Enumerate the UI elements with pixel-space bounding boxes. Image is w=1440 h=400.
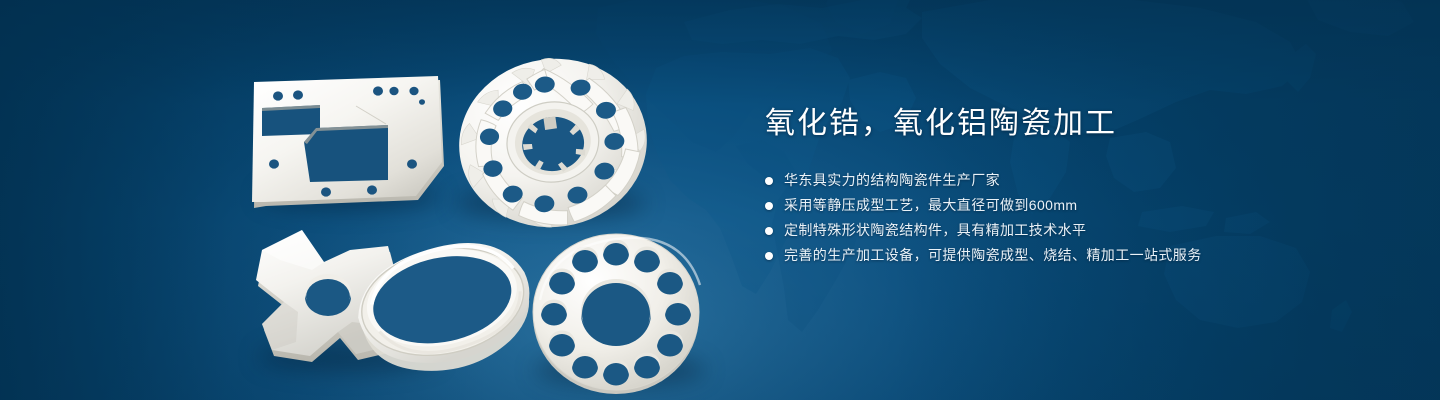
ceramic-perforated-disc <box>533 234 700 394</box>
page-title: 氧化锆，氧化铝陶瓷加工 <box>765 104 1385 144</box>
list-item: 定制特殊形状陶瓷结构件，具有精加工技术水平 <box>765 218 1385 243</box>
feature-list: 华东具实力的结构陶瓷件生产厂家 采用等静压成型工艺，最大直径可做到600mm 定… <box>765 168 1385 268</box>
bullet-dot-icon <box>765 177 773 185</box>
bullet-dot-icon <box>765 227 773 235</box>
list-item-label: 采用等静压成型工艺，最大直径可做到600mm <box>784 193 1077 218</box>
ceramic-plate <box>252 76 444 208</box>
list-item: 完善的生产加工设备，可提供陶瓷成型、烧结、精加工一站式服务 <box>765 243 1385 268</box>
ceramic-impeller <box>448 46 658 239</box>
list-item: 华东具实力的结构陶瓷件生产厂家 <box>765 168 1385 193</box>
list-item: 采用等静压成型工艺，最大直径可做到600mm <box>765 193 1385 218</box>
list-item-label: 定制特殊形状陶瓷结构件，具有精加工技术水平 <box>784 218 1086 243</box>
product-photo-group <box>240 50 720 380</box>
hero-banner: 氧化锆，氧化铝陶瓷加工 华东具实力的结构陶瓷件生产厂家 采用等静压成型工艺，最大… <box>0 0 1440 400</box>
list-item-label: 华东具实力的结构陶瓷件生产厂家 <box>784 168 1000 193</box>
bullet-dot-icon <box>765 252 773 260</box>
list-item-label: 完善的生产加工设备，可提供陶瓷成型、烧结、精加工一站式服务 <box>784 243 1202 268</box>
banner-copy: 氧化锆，氧化铝陶瓷加工 华东具实力的结构陶瓷件生产厂家 采用等静压成型工艺，最大… <box>765 104 1385 268</box>
bullet-dot-icon <box>765 202 773 210</box>
ceramic-products-illustration <box>240 50 720 390</box>
